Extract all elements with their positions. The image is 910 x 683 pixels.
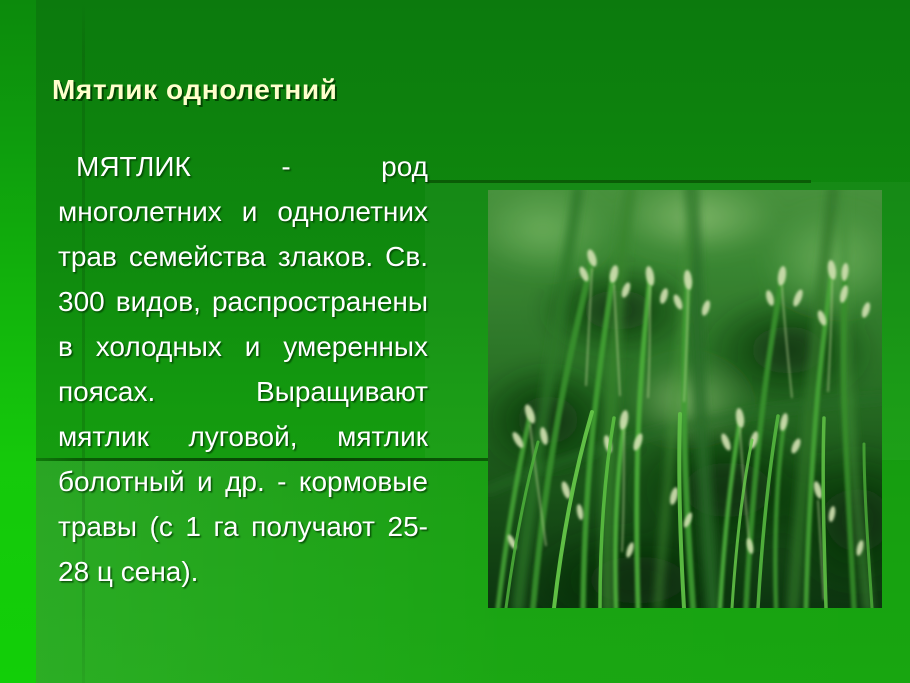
photo-illustration bbox=[488, 190, 882, 608]
poa-annua-photo bbox=[488, 190, 882, 608]
upper-horizontal-divider bbox=[425, 180, 811, 183]
background-left-band bbox=[0, 0, 36, 683]
body-paragraph: МЯТЛИК - род многолетних и однолетних тр… bbox=[58, 144, 428, 594]
slide-canvas: Мятлик однолетний МЯТЛИК - род многолетн… bbox=[0, 0, 910, 683]
page-title: Мятлик однолетний bbox=[52, 74, 338, 106]
